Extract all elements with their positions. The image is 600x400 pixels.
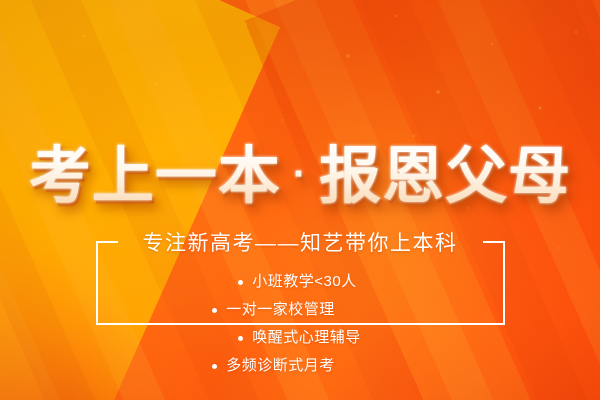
feature-label: 一对一家校管理 (226, 300, 335, 320)
bullet-dot-icon (212, 364, 217, 369)
banner-content: 考上一本·报恩父母 专注新高考——知艺带你上本科 小班教学<30人 一对一家校管… (0, 0, 600, 400)
headline-right-text: 报恩父母 (319, 142, 571, 211)
feature-item: 唤醒式心理辅导 (158, 328, 443, 348)
promo-banner: 考上一本·报恩父母 专注新高考——知艺带你上本科 小班教学<30人 一对一家校管… (0, 0, 600, 400)
feature-label: 小班教学<30人 (252, 272, 356, 292)
feature-item: 小班教学<30人 (158, 272, 443, 292)
headline-separator-dot: · (281, 152, 319, 196)
headline-left-text: 考上一本 (29, 142, 281, 211)
feature-item: 多频诊断式月考 (184, 356, 417, 376)
feature-item: 一对一家校管理 (184, 300, 417, 320)
subtitle: 专注新高考——知艺带你上本科 (0, 231, 600, 257)
headline: 考上一本·报恩父母 (0, 138, 600, 213)
feature-list: 小班教学<30人 一对一家校管理 唤醒式心理辅导 多频诊断式月考 (96, 272, 505, 376)
bullet-dot-icon (238, 280, 243, 285)
feature-label: 多频诊断式月考 (226, 356, 335, 376)
bullet-dot-icon (212, 308, 217, 313)
bullet-dot-icon (238, 336, 243, 341)
feature-label: 唤醒式心理辅导 (252, 328, 361, 348)
